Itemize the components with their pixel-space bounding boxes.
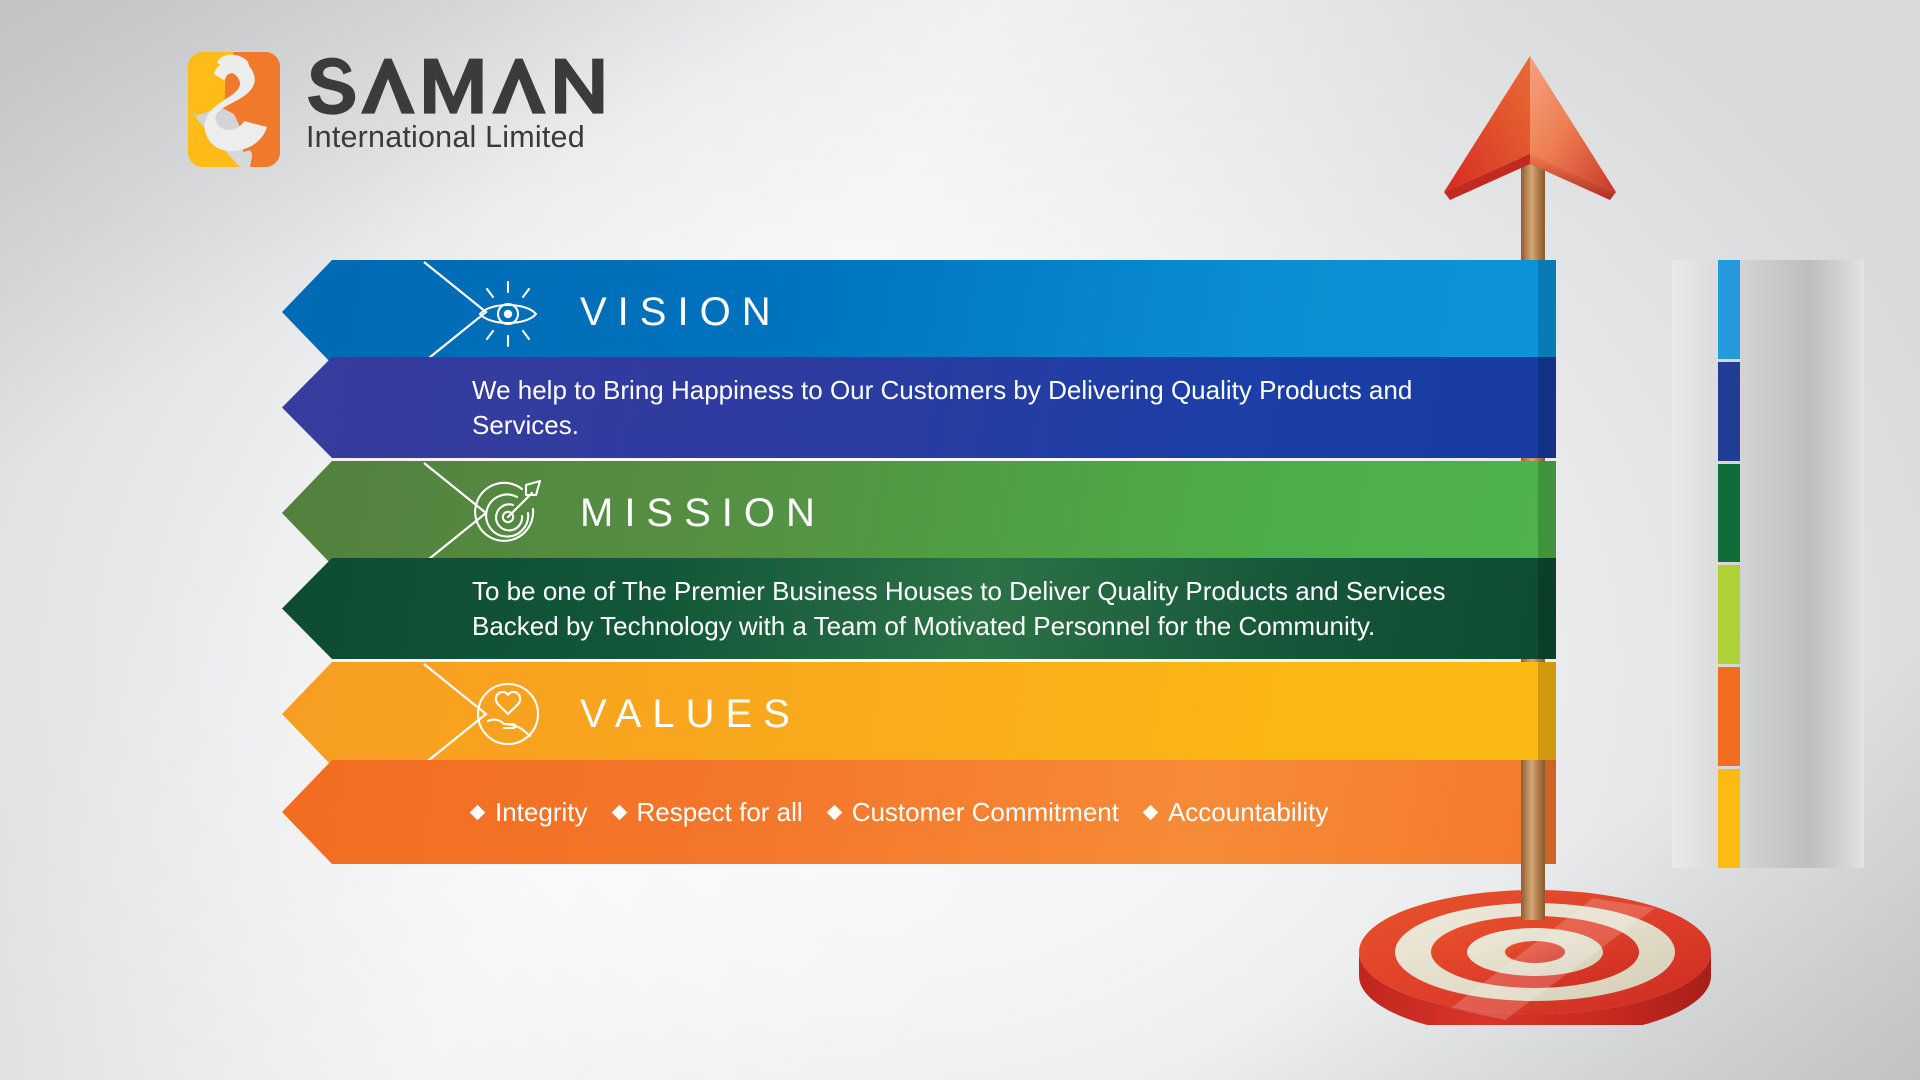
mission-body-band: To be one of The Premier Business Houses… xyxy=(282,558,1556,659)
strip-swatch-darkblue xyxy=(1718,362,1740,461)
mission-title: MISSION xyxy=(580,491,826,536)
value-item: Accountability xyxy=(1145,797,1328,828)
values-body-band: Integrity Respect for all Customer Commi… xyxy=(282,760,1556,864)
brand-logo: International Limited xyxy=(188,52,644,167)
strip-swatch-lightblue xyxy=(1718,260,1740,359)
diamond-bullet-icon xyxy=(826,804,842,820)
value-label: Accountability xyxy=(1168,797,1328,828)
diamond-bullet-icon xyxy=(1143,804,1159,820)
brand-tagline: International Limited xyxy=(306,120,644,155)
flag-pole-foreground xyxy=(1521,760,1545,920)
strip-swatch-orange xyxy=(1718,667,1740,766)
value-label: Customer Commitment xyxy=(852,797,1119,828)
values-title: VALUES xyxy=(580,692,801,737)
vision-title: VISION xyxy=(580,290,782,335)
diamond-bullet-icon xyxy=(611,804,627,820)
right-gray-panel xyxy=(1672,260,1864,868)
strip-swatch-lime xyxy=(1718,565,1740,664)
vision-body-band: We help to Bring Happiness to Our Custom… xyxy=(282,357,1556,458)
strip-swatch-darkgreen xyxy=(1718,464,1740,563)
brand-text: International Limited xyxy=(306,52,644,155)
strip-swatch-amber xyxy=(1718,769,1740,868)
target-dart-icon xyxy=(470,475,546,551)
saman-wordmark xyxy=(306,56,644,116)
values-list: Integrity Respect for all Customer Commi… xyxy=(472,797,1498,828)
diamond-bullet-icon xyxy=(470,804,486,820)
color-strip xyxy=(1718,260,1740,868)
eye-icon xyxy=(470,274,546,350)
mission-header-band: MISSION xyxy=(282,461,1556,565)
mission-statement: To be one of The Premier Business Houses… xyxy=(472,574,1498,643)
arrow-up-icon xyxy=(1440,52,1620,237)
hand-heart-icon xyxy=(470,676,546,752)
value-item: Integrity xyxy=(472,797,588,828)
vision-statement: We help to Bring Happiness to Our Custom… xyxy=(472,373,1498,442)
value-label: Integrity xyxy=(495,797,588,828)
value-label: Respect for all xyxy=(637,797,803,828)
value-item: Respect for all xyxy=(614,797,803,828)
value-item: Customer Commitment xyxy=(829,797,1119,828)
vision-header-band: VISION xyxy=(282,260,1556,364)
values-header-band: VALUES xyxy=(282,662,1556,766)
saman-s-monogram-icon xyxy=(188,52,280,167)
